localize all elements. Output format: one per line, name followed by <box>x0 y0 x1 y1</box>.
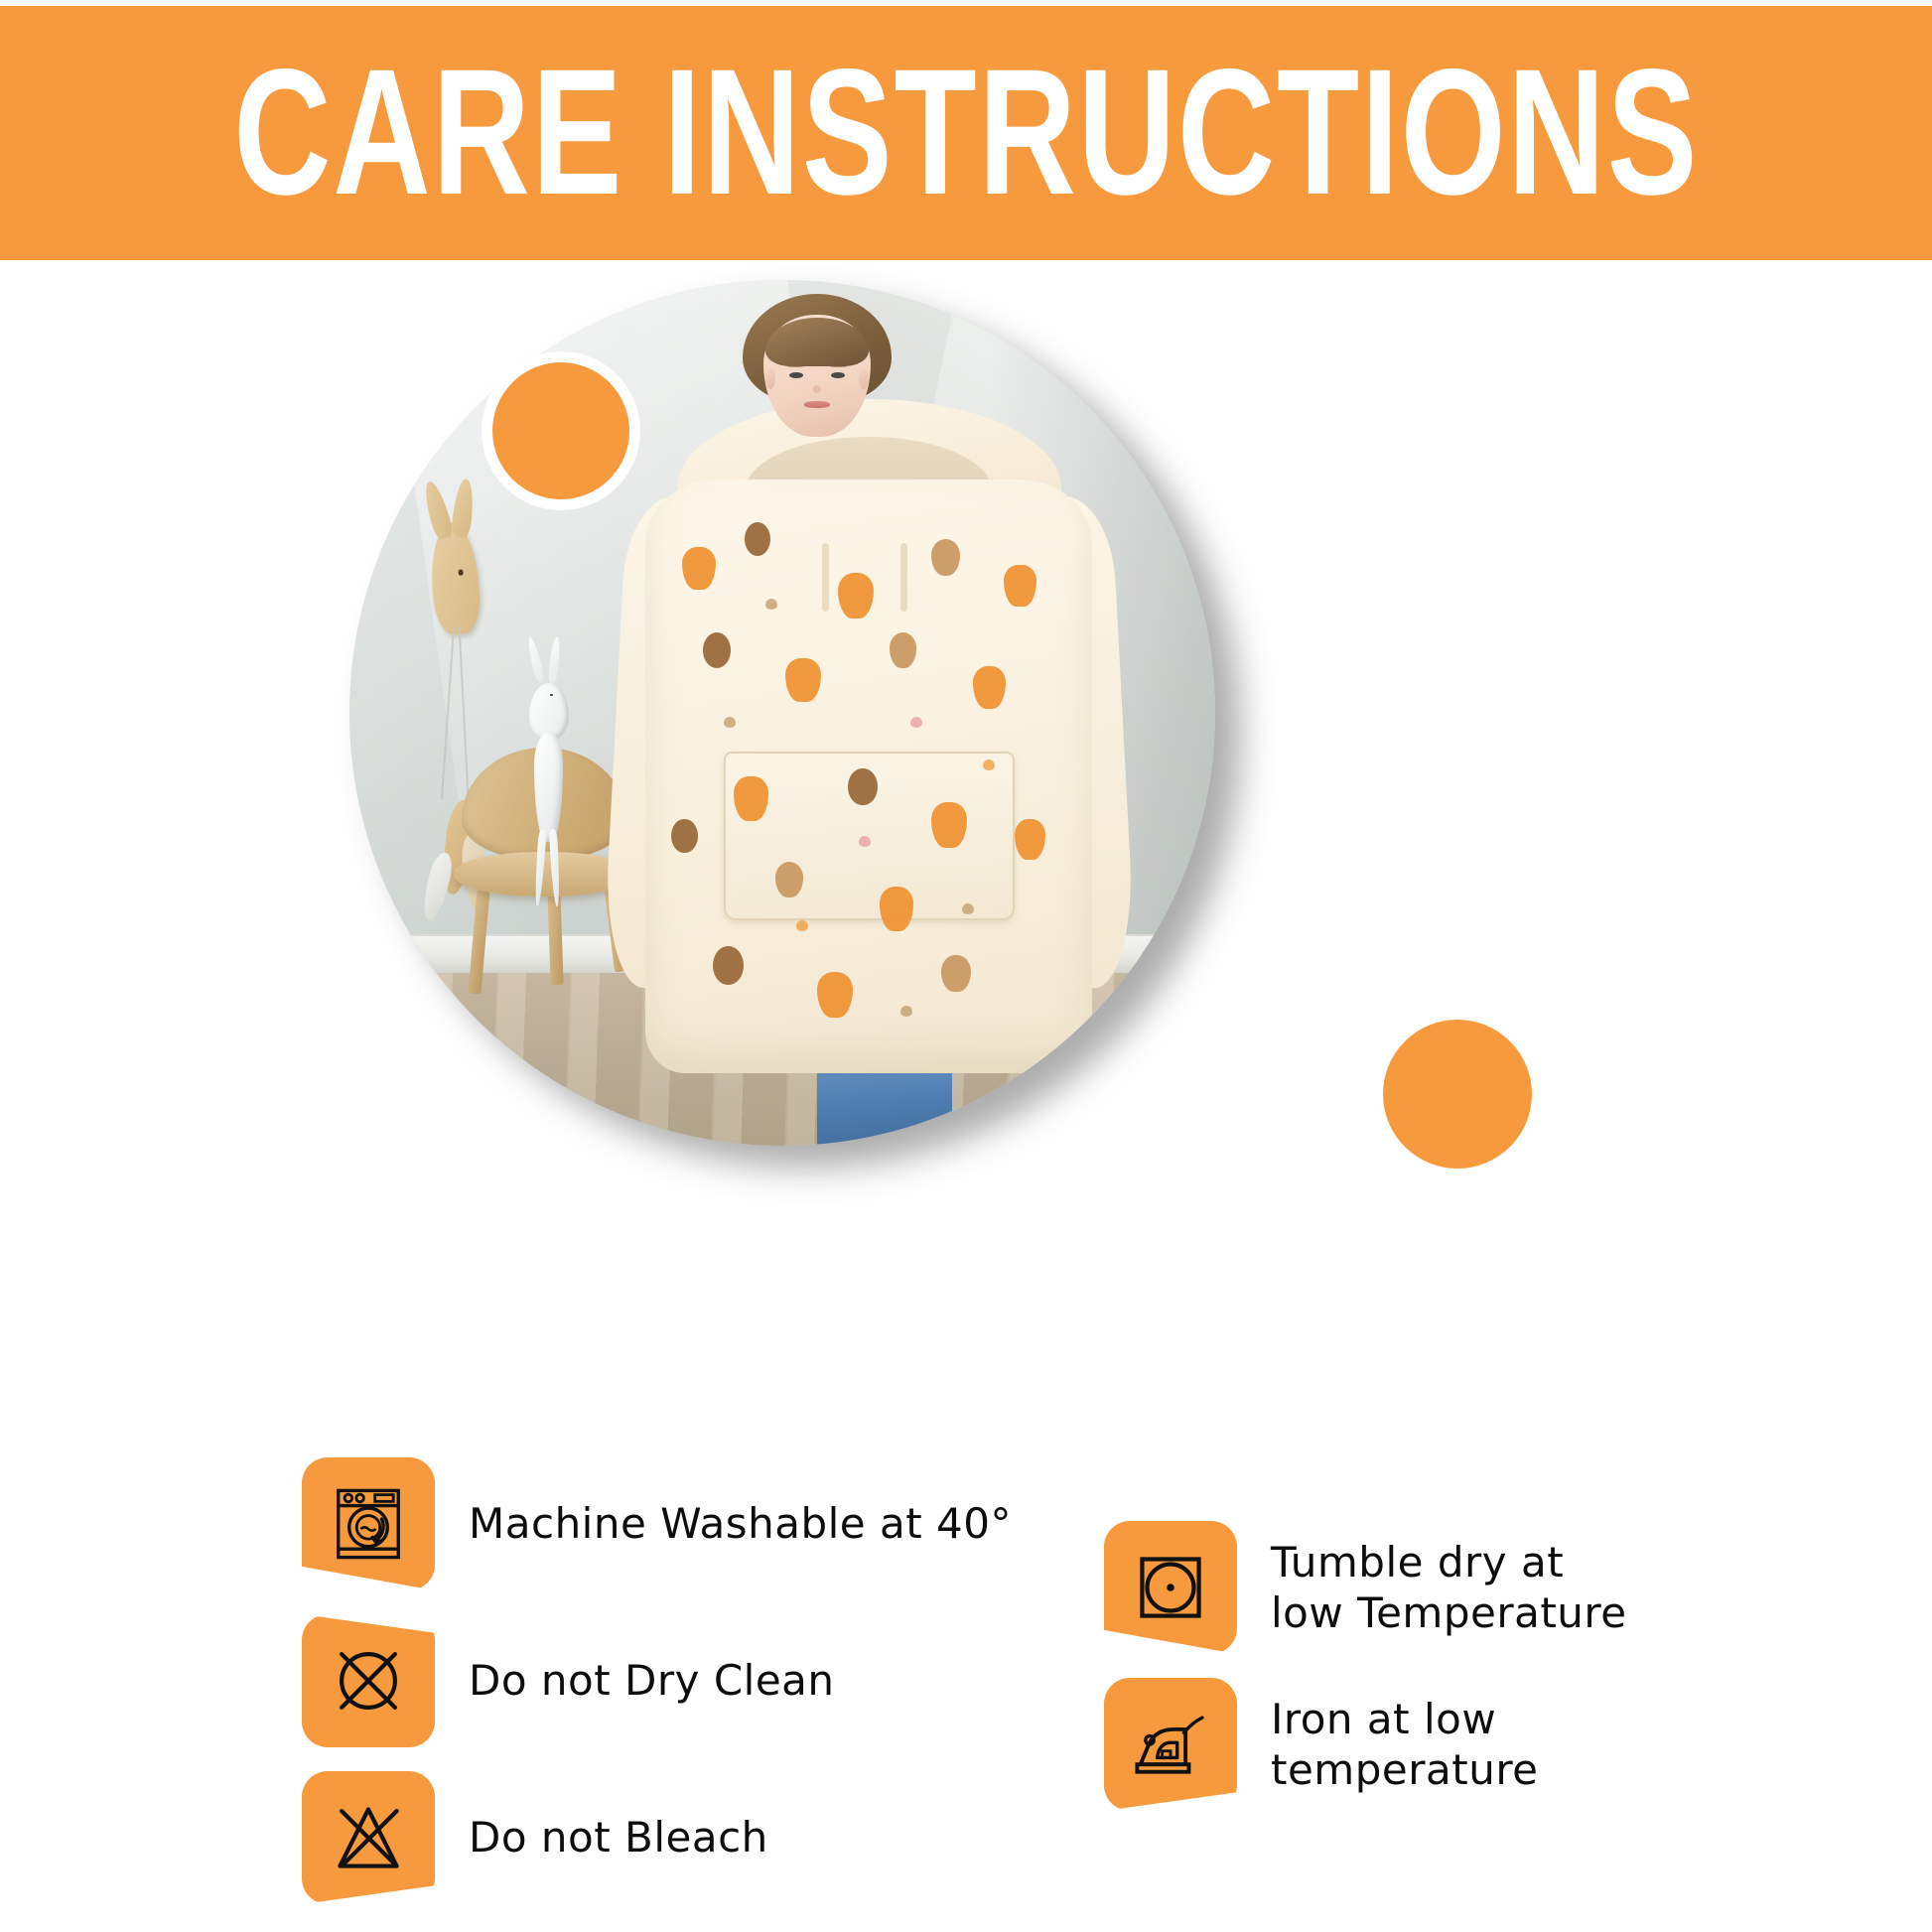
care-row-no-dry-clean: Do not Dry Clean <box>302 1614 1056 1747</box>
eye <box>831 372 845 378</box>
iron-low-icon <box>1129 1703 1212 1786</box>
face <box>763 315 871 437</box>
header-banner: CARE INSTRUCTIONS <box>0 6 1932 260</box>
kangaroo-pocket <box>724 752 1015 921</box>
page-title: CARE INSTRUCTIONS <box>233 44 1699 223</box>
care-label-iron: Iron at low temperature <box>1271 1694 1539 1795</box>
care-label-no-bleach: Do not Bleach <box>469 1812 768 1863</box>
bottom-right-accent-circle <box>1372 1009 1543 1179</box>
washing-machine-icon <box>327 1482 410 1566</box>
care-label-machine-wash: Machine Washable at 40° <box>469 1498 1012 1549</box>
do-not-bleach-icon-tile <box>302 1771 435 1904</box>
care-row-iron: Iron at low temperature <box>1104 1678 1859 1811</box>
care-row-tumble-dry: Tumble dry at low Temperature <box>1104 1521 1859 1654</box>
ear <box>859 368 869 389</box>
top-left-accent-circle <box>482 351 640 510</box>
rabbit-leg <box>534 829 547 907</box>
child-head <box>755 297 880 446</box>
tumble-dry-low-icon-tile <box>1104 1521 1237 1654</box>
mouth <box>804 401 830 408</box>
care-row-no-bleach: Do not Bleach <box>302 1771 1056 1904</box>
iron-low-icon-tile <box>1104 1678 1237 1811</box>
eye <box>789 372 803 378</box>
drawstring <box>900 543 907 611</box>
nose <box>813 385 822 392</box>
room-scene <box>349 280 1215 1146</box>
tumble-dry-low-icon <box>1129 1546 1212 1629</box>
child-model <box>610 293 1129 1142</box>
bunny-hook-eye <box>458 569 463 576</box>
care-row-machine-wash: Machine Washable at 40° <box>302 1457 1056 1590</box>
care-label-no-dry-clean: Do not Dry Clean <box>469 1655 835 1706</box>
rabbit-eye <box>550 694 553 695</box>
care-instructions-right-column: Tumble dry at low Temperature Iron at lo… <box>1104 1521 1859 1811</box>
care-instructions-infographic: CARE INSTRUCTIONS <box>0 0 1932 1932</box>
drawstring <box>822 543 829 611</box>
rabbit-body <box>534 733 563 842</box>
washing-machine-icon-tile <box>302 1457 435 1590</box>
ear <box>765 368 775 389</box>
product-photo-circle <box>349 280 1215 1146</box>
do-not-dry-clean-icon-tile <box>302 1614 435 1747</box>
do-not-dry-clean-icon <box>327 1639 410 1723</box>
care-label-tumble-dry: Tumble dry at low Temperature <box>1271 1537 1627 1638</box>
rabbit-leg <box>549 829 561 907</box>
care-instructions-left-column: Machine Washable at 40° Do not Dry Clean <box>302 1457 1056 1904</box>
rabbit-figurine <box>518 652 579 912</box>
product-photo <box>349 280 1215 1146</box>
do-not-bleach-icon <box>327 1796 410 1879</box>
